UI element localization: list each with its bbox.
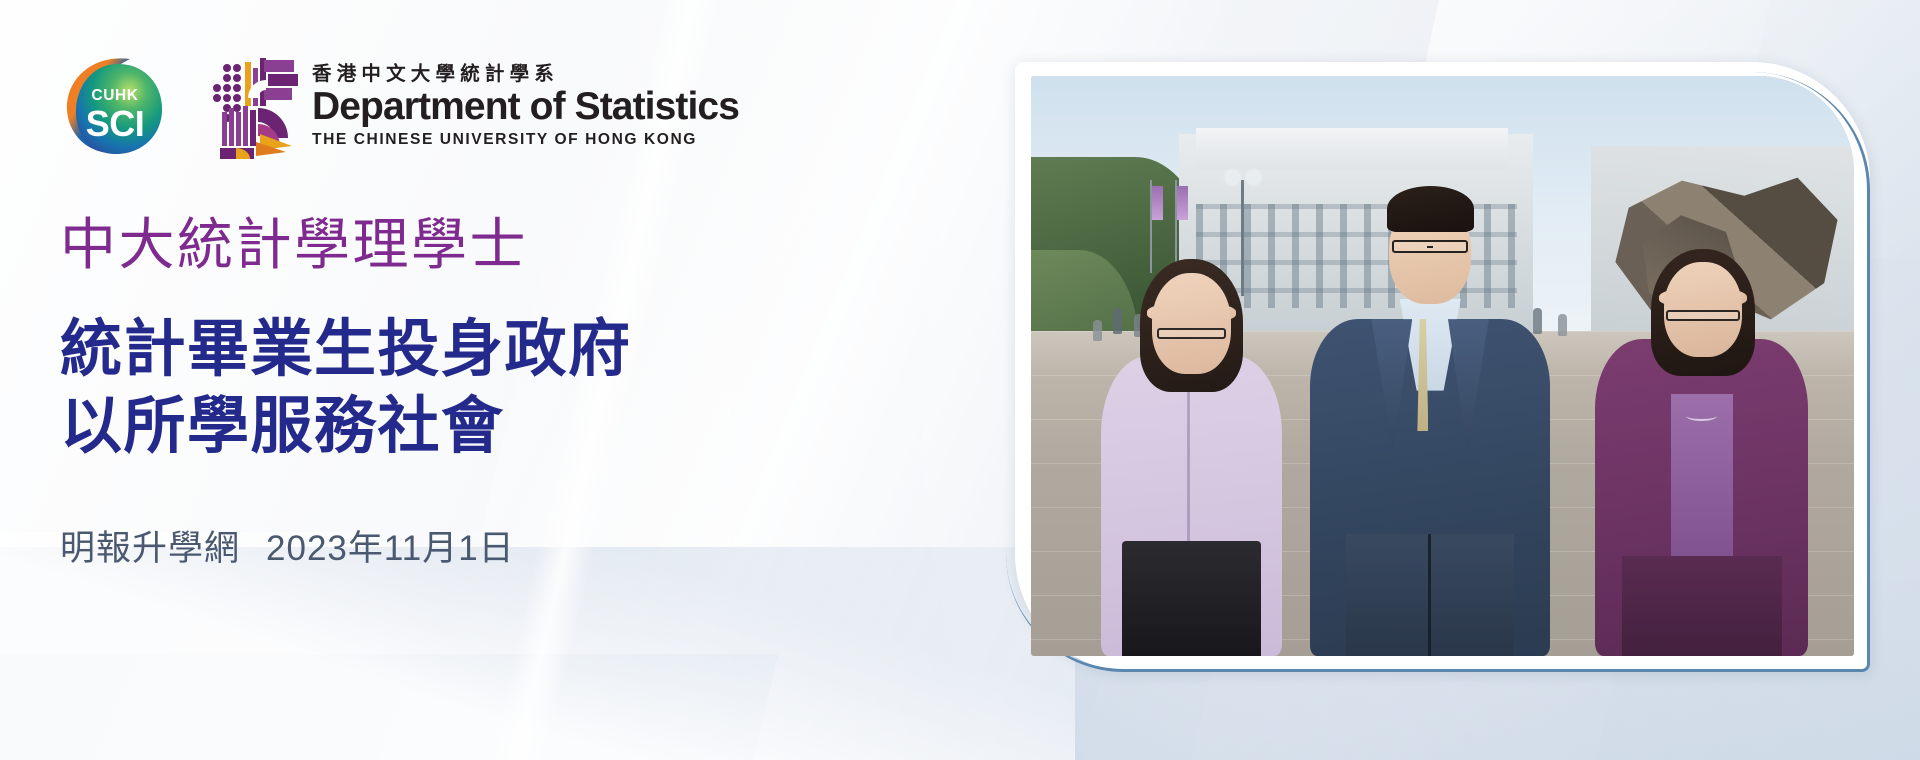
- cuhk-sci-logo: CUHK SCI: [60, 52, 168, 160]
- promotional-banner: CUHK SCI: [0, 0, 1920, 760]
- subject-left-glasses: [1157, 328, 1227, 339]
- subject-left-placket: [1187, 365, 1190, 541]
- feature-headline: 統計畢業生投身政府 以所學服務社會: [60, 312, 820, 466]
- programme-title: 中大統計學理學士: [60, 212, 820, 278]
- svg-text:CUHK: CUHK: [91, 87, 138, 104]
- photo-subject-left: [1089, 215, 1295, 656]
- department-english-name: Department of Statistics: [312, 87, 739, 128]
- source-date: 2023年11月1日: [266, 529, 515, 568]
- subject-centre-trousers: [1346, 534, 1514, 656]
- source-publication: 明報升學網: [60, 529, 240, 568]
- subject-right-necklace: [1686, 411, 1717, 421]
- department-text-block: 香港中文大學統計學系 Department of Statistics THE …: [312, 50, 739, 150]
- subject-centre-glasses: [1392, 240, 1469, 253]
- source-credit-row: 明報升學網2023年11月1日: [60, 520, 820, 571]
- feature-photo: [1015, 62, 1870, 672]
- department-chinese-name: 香港中文大學統計學系: [312, 62, 739, 86]
- photo-subject-centre: [1303, 146, 1558, 656]
- feature-headline-line-1: 統計畢業生投身政府: [60, 312, 820, 389]
- subject-left-face: [1152, 273, 1230, 374]
- svg-text:SCI: SCI: [86, 103, 145, 144]
- photo-passerby: [1558, 314, 1567, 336]
- subject-right-skirt: [1622, 556, 1782, 656]
- department-logo-lockup: 香港中文大學統計學系 Department of Statistics THE …: [206, 50, 739, 160]
- dept-statistics-logo-mark: [206, 50, 298, 160]
- content-column: CUHK SCI: [60, 48, 820, 668]
- subject-right-glasses: [1666, 310, 1739, 321]
- subject-right-top: [1671, 394, 1733, 575]
- feature-headline-line-2: 以所學服務社會: [60, 389, 820, 466]
- subject-centre-hair: [1387, 186, 1474, 232]
- university-name-line: THE CHINESE UNIVERSITY OF HONG KONG: [312, 131, 739, 150]
- logo-row: CUHK SCI: [60, 48, 820, 166]
- subject-left-skirt: [1122, 541, 1262, 656]
- photo-subject-right: [1591, 204, 1813, 656]
- photo-image: [1031, 76, 1854, 656]
